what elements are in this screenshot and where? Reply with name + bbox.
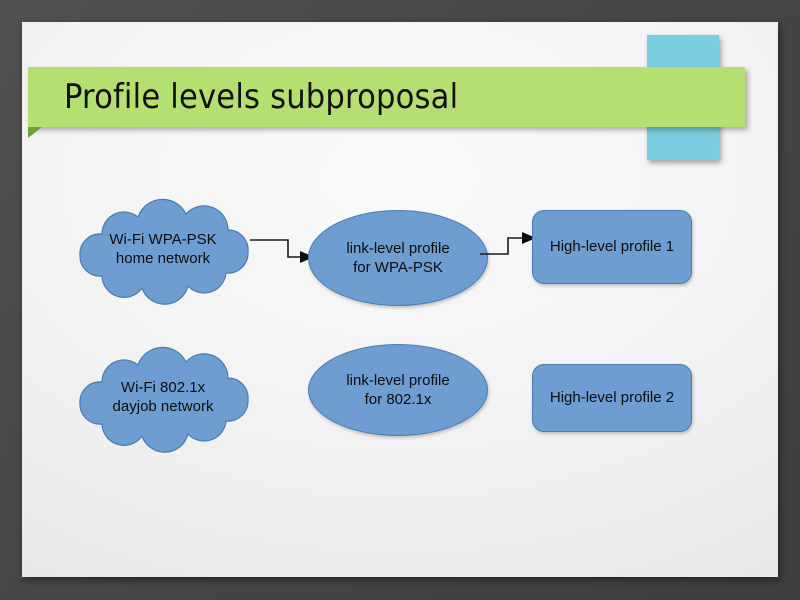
- cloud-shape-wpa-psk[interactable]: Wi-Fi WPA-PSK home network: [64, 204, 262, 294]
- slide-title: Profile levels subproposal: [64, 70, 724, 124]
- presentation-frame: Profile levels subproposal Wi-Fi WPA-PSK…: [0, 0, 800, 600]
- box-1-line1: High-level profile 1: [550, 237, 674, 256]
- banner-fold-decoration: [28, 127, 42, 138]
- box-2-line1: High-level profile 2: [550, 388, 674, 407]
- box-1-label: High-level profile 1: [533, 211, 691, 283]
- connector-ellipse1-to-box1: [480, 230, 540, 262]
- ellipse-1-label: link-level profile for WPA-PSK: [309, 211, 487, 305]
- cloud-shape-8021x[interactable]: Wi-Fi 802.1x dayjob network: [64, 352, 262, 442]
- ellipse-1-line2: for WPA-PSK: [353, 258, 443, 277]
- rounded-box-high-level-profile-1[interactable]: High-level profile 1: [532, 210, 692, 284]
- ellipse-2-label: link-level profile for 802.1x: [309, 345, 487, 435]
- ellipse-shape-link-level-wpa-psk[interactable]: link-level profile for WPA-PSK: [308, 210, 488, 306]
- box-2-label: High-level profile 2: [533, 365, 691, 431]
- ellipse-shape-link-level-8021x[interactable]: link-level profile for 802.1x: [308, 344, 488, 436]
- ellipse-1-line1: link-level profile: [346, 239, 449, 258]
- slide-canvas: Profile levels subproposal Wi-Fi WPA-PSK…: [22, 22, 778, 577]
- rounded-box-high-level-profile-2[interactable]: High-level profile 2: [532, 364, 692, 432]
- ellipse-2-line2: for 802.1x: [365, 390, 432, 409]
- ellipse-2-line1: link-level profile: [346, 371, 449, 390]
